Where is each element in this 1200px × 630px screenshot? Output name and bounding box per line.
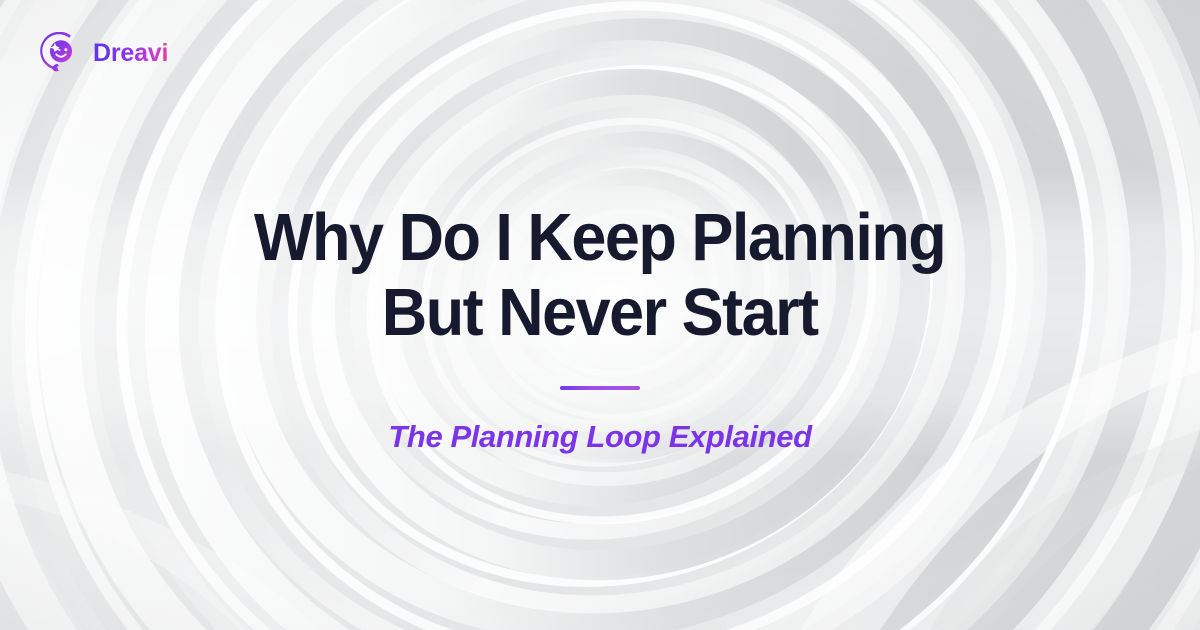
accent-divider [560, 386, 640, 390]
social-share-banner: Dreavi Why Do I Keep Planning But Never … [0, 0, 1200, 630]
headline-line-2: But Never Start [254, 275, 945, 350]
hero-content: Why Do I Keep Planning But Never Start T… [0, 0, 1200, 630]
page-subtitle: The Planning Loop Explained [388, 418, 811, 455]
headline-line-1: Why Do I Keep Planning [254, 200, 945, 275]
brand-name: Dreavi [93, 41, 168, 66]
page-title: Why Do I Keep Planning But Never Start [254, 200, 945, 350]
smiling-crescent-face-icon [40, 32, 82, 74]
brand-logo-lockup[interactable]: Dreavi [40, 32, 168, 74]
